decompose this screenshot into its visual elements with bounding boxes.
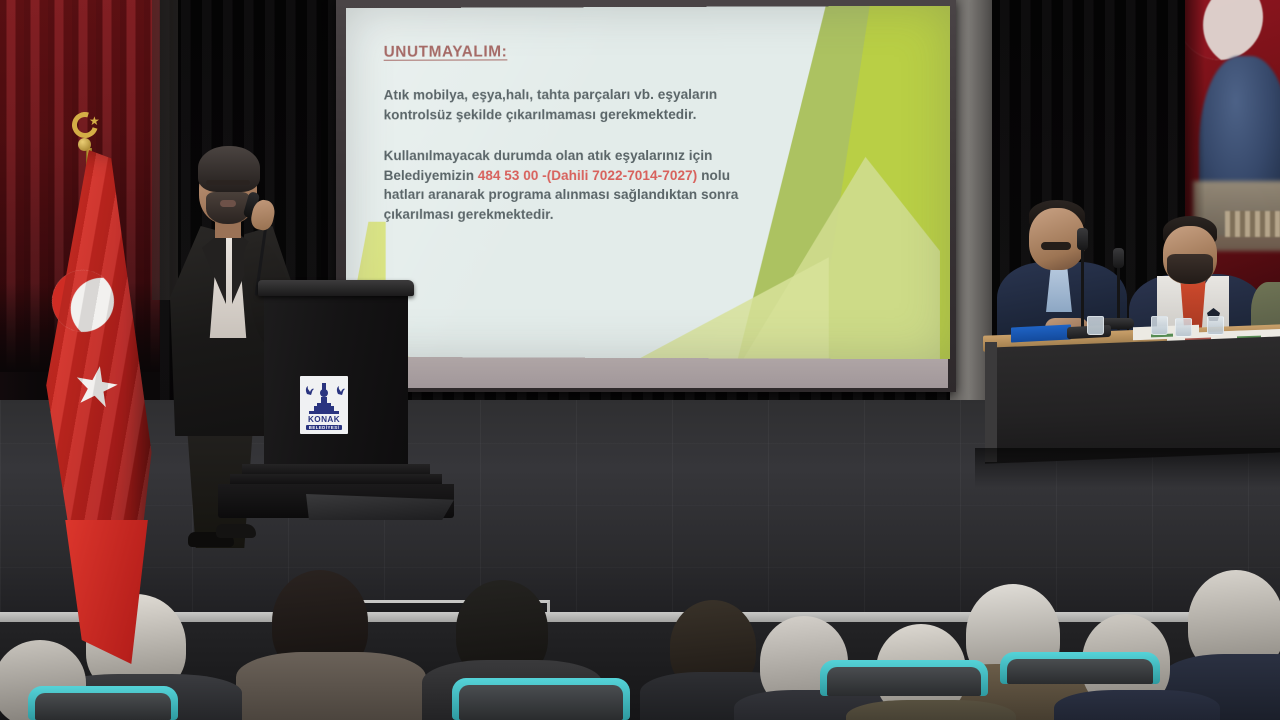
chair-4-cushion [1007,659,1153,684]
audience-7-body [1054,690,1220,720]
podium-logo-name: KONAK [308,415,340,424]
water-glass-2 [1151,316,1168,335]
chair-2-cushion [35,693,171,720]
table-microphone-head-2 [1113,248,1124,268]
presentation-slide[interactable]: UNUTMAYALIM: Atık mobilya, eşya,halı, ta… [346,6,950,359]
auditorium-chair-1[interactable] [452,678,630,720]
slide-text-block: UNUTMAYALIM: Atık mobilya, eşya,halı, ta… [384,42,803,246]
auditorium-chair-2[interactable] [28,686,178,720]
auditorium-chair-3[interactable] [820,660,988,696]
podium-top [258,280,414,296]
blue-folder [1011,324,1071,342]
table-microphone-head-1 [1077,228,1088,250]
presenter-mouth [220,200,236,207]
slide-p2-line2-post: nolu [697,167,730,182]
audience-10-body [846,700,1016,720]
slide-p2-line2-pre: Belediyemizin [384,168,478,183]
presenter-beard [206,192,250,224]
audience-1-body [236,652,426,720]
podium-logo-plate: KONAK BELEDİYESİ [300,376,348,434]
auditorium-scene: UNUTMAYALIM: Atık mobilya, eşya,halı, ta… [0,0,1280,720]
auditorium-chair-4[interactable] [1000,652,1160,684]
slide-p1-line1: Atık mobilya, eşya,halı, tahta parçaları… [384,87,718,103]
water-glass-4 [1207,316,1224,335]
panelist-right-beard [1167,254,1213,284]
slide-p2-line4: çıkarılması gerekmektedir. [384,206,554,221]
panel-table-leg [985,342,997,462]
panel-table-group [955,190,1280,490]
panel-table-shadow [975,448,1280,488]
panelist-left-moustache [1041,242,1071,250]
slide-title: UNUTMAYALIM: [384,42,803,61]
slide-p2-line1: Kullanılmayacak durumda olan atık eşyala… [384,148,713,163]
slide-p2-line3: hatları aranarak programa alınması sağla… [384,187,739,202]
presenter-shoe-right [216,524,256,538]
finial-ball [78,138,91,151]
podium-logo-sub: BELEDİYESİ [306,425,343,430]
slide-p1-line2: kontrolsüz şekilde çıkarılmaması gerekme… [384,106,697,121]
water-glass-3 [1175,318,1192,337]
chair-3-cushion [827,667,981,696]
chair-1-cushion [459,685,623,720]
finial-star: ★ [89,116,100,127]
presenter-brow [206,180,250,185]
presenter-hair [198,146,260,192]
crescent-star-finial-icon: ★ [70,110,104,154]
slide-phone-highlight: 484 53 00 -(Dahili 7022-7014-7027) [478,167,697,182]
projection-screen-lower-band [344,356,948,388]
slide-paragraph-2: Kullanılmayacak durumda olan atık eşyala… [384,146,803,224]
water-glass-1 [1087,316,1104,335]
audience-member-1 [242,570,422,720]
podium: KONAK BELEDİYESİ [258,280,414,520]
izmir-clock-tower-icon [300,380,348,414]
slide-paragraph-1: Atık mobilya, eşya,halı, tahta parçaları… [384,85,803,125]
panel-table-front [985,336,1280,464]
